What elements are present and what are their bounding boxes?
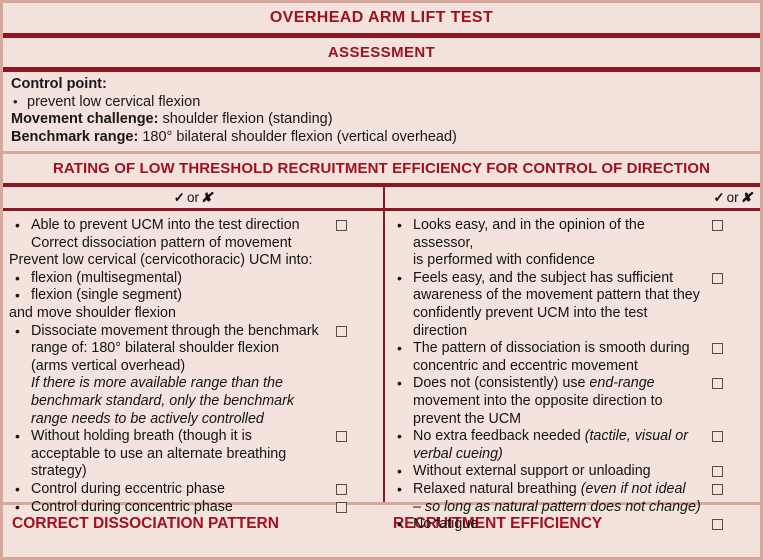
criterion-item: •Able to prevent UCM into the test direc… bbox=[3, 217, 383, 235]
criterion-line-italic: benchmark standard, only the benchmark bbox=[31, 393, 294, 409]
check-icon: ✓ bbox=[174, 190, 185, 206]
criterion-text: No fatigue bbox=[385, 516, 760, 534]
assessment-sheet: OVERHEAD ARM LIFT TEST ASSESSMENT Contro… bbox=[0, 0, 763, 560]
criterion-line: acceptable to use an alternate breathing bbox=[31, 446, 329, 464]
control-point-bullet-row: prevent low cervical flexion bbox=[11, 94, 752, 112]
movement-challenge-label: Movement challenge: bbox=[11, 111, 158, 127]
rating-title: RATING OF LOW THRESHOLD RECRUITMENT EFFI… bbox=[53, 160, 710, 177]
criterion-line: benchmark standard, only the benchmark bbox=[31, 393, 329, 411]
control-point-label: Control point: bbox=[11, 76, 107, 92]
criterion-line: awareness of the movement pattern that t… bbox=[413, 287, 706, 305]
assessment-label: ASSESSMENT bbox=[328, 44, 435, 61]
criterion-item: •flexion (multisegmental) bbox=[3, 270, 383, 288]
criterion-item: Correct dissociation pattern of movement bbox=[3, 235, 383, 253]
criterion-item: •The pattern of dissociation is smooth d… bbox=[385, 340, 760, 375]
check-icon: ✓ bbox=[713, 190, 724, 206]
criterion-line: Feels easy, and the subject has sufficie… bbox=[413, 270, 706, 288]
criterion-checkbox[interactable] bbox=[336, 502, 347, 513]
criterion-line: Without external support or unloading bbox=[413, 463, 706, 481]
criterion-line: Able to prevent UCM into the test direct… bbox=[31, 217, 329, 235]
bullet-icon: • bbox=[15, 217, 20, 235]
criterion-line: and move shoulder flexion bbox=[9, 305, 329, 323]
criterion-text: Feels easy, and the subject has sufficie… bbox=[385, 270, 760, 340]
criterion-line: Control during eccentric phase bbox=[31, 481, 329, 499]
criterion-line: (arms vertical overhead) bbox=[31, 358, 329, 376]
criterion-line-italic: verbal cueing) bbox=[413, 446, 503, 462]
criterion-item: •Control during eccentric phase bbox=[3, 481, 383, 499]
criterion-line-italic: (tactile, visual or bbox=[585, 428, 688, 444]
criterion-line: prevent the UCM bbox=[413, 411, 706, 429]
movement-challenge-value: shoulder flexion (standing) bbox=[162, 111, 332, 127]
mark-or-left: or bbox=[185, 190, 201, 205]
criterion-line: Relaxed natural breathing (even if not i… bbox=[413, 481, 706, 499]
mark-or-right: or bbox=[725, 190, 741, 205]
bullet-icon: • bbox=[15, 499, 20, 517]
bullet-icon: • bbox=[397, 516, 402, 534]
test-info-block: Control point: prevent low cervical flex… bbox=[3, 72, 760, 154]
bullet-icon: • bbox=[397, 340, 402, 358]
criterion-line: concentric and eccentric movement bbox=[413, 358, 706, 376]
control-point-bullet-text: prevent low cervical flexion bbox=[27, 94, 200, 110]
recruitment-efficiency-column: •Looks easy, and in the opinion of the a… bbox=[383, 211, 760, 502]
criterion-item: •Without holding breath (though it isacc… bbox=[3, 428, 383, 481]
criterion-line-italic: (even if not ideal bbox=[581, 481, 686, 497]
criterion-item: •Control during concentric phase bbox=[3, 499, 383, 517]
criterion-text: Looks easy, and in the opinion of the as… bbox=[385, 217, 760, 270]
bullet-icon: • bbox=[15, 481, 20, 499]
bullet-icon: • bbox=[397, 270, 402, 288]
mark-legend-right: ✓or✘ bbox=[383, 187, 760, 208]
criteria-columns: •Able to prevent UCM into the test direc… bbox=[3, 211, 760, 505]
bullet-icon: • bbox=[15, 270, 20, 288]
criterion-line: No fatigue bbox=[413, 516, 706, 534]
criterion-checkbox[interactable] bbox=[336, 431, 347, 442]
criterion-line-italic: end-range bbox=[589, 375, 654, 391]
bullet-icon: • bbox=[397, 217, 402, 235]
mark-legend-left: ✓or✘ bbox=[3, 187, 383, 208]
mark-legend-row: ✓or✘ ✓or✘ bbox=[3, 187, 760, 211]
criterion-checkbox[interactable] bbox=[336, 484, 347, 495]
criterion-line: Correct dissociation pattern of movement bbox=[31, 235, 329, 253]
criterion-text: Control during concentric phase bbox=[3, 499, 383, 517]
criterion-text: flexion (multisegmental) bbox=[3, 270, 383, 288]
criterion-checkbox[interactable] bbox=[712, 519, 723, 530]
assessment-band: ASSESSMENT bbox=[3, 38, 760, 72]
bullet-icon: • bbox=[397, 428, 402, 446]
correct-dissociation-pattern-column: •Able to prevent UCM into the test direc… bbox=[3, 211, 383, 502]
criterion-checkbox[interactable] bbox=[712, 220, 723, 231]
criterion-text: The pattern of dissociation is smooth du… bbox=[385, 340, 760, 375]
cross-icon: ✘ bbox=[741, 190, 752, 206]
criterion-line: direction bbox=[413, 323, 706, 341]
criterion-item: Prevent low cervical (cervicothoracic) U… bbox=[3, 252, 383, 270]
criterion-line-plain: Relaxed natural breathing bbox=[413, 481, 581, 497]
criterion-line: is performed with confidence bbox=[413, 252, 706, 270]
criterion-item: •No extra feedback needed (tactile, visu… bbox=[385, 428, 760, 463]
criterion-text: Able to prevent UCM into the test direct… bbox=[3, 217, 383, 235]
cross-icon: ✘ bbox=[201, 190, 212, 206]
benchmark-range-label: Benchmark range: bbox=[11, 129, 138, 145]
test-title-band: OVERHEAD ARM LIFT TEST bbox=[3, 3, 760, 38]
criterion-checkbox[interactable] bbox=[336, 220, 347, 231]
criterion-line: movement into the opposite direction to bbox=[413, 393, 706, 411]
criterion-text: Relaxed natural breathing (even if not i… bbox=[385, 481, 760, 516]
movement-challenge-row: Movement challenge: shoulder flexion (st… bbox=[11, 111, 752, 129]
criterion-line: Control during concentric phase bbox=[31, 499, 329, 517]
criterion-line: verbal cueing) bbox=[413, 446, 706, 464]
criterion-item: and move shoulder flexion bbox=[3, 305, 383, 323]
benchmark-range-row: Benchmark range: 180° bilateral shoulder… bbox=[11, 129, 752, 147]
criterion-text: Correct dissociation pattern of movement bbox=[3, 235, 383, 253]
criterion-checkbox[interactable] bbox=[712, 466, 723, 477]
bullet-icon: • bbox=[397, 463, 402, 481]
criterion-checkbox[interactable] bbox=[712, 273, 723, 284]
criterion-line: No extra feedback needed (tactile, visua… bbox=[413, 428, 706, 446]
criterion-item: •Dissociate movement through the benchma… bbox=[3, 323, 383, 429]
criterion-text: No extra feedback needed (tactile, visua… bbox=[385, 428, 760, 463]
criterion-text: flexion (single segment) bbox=[3, 287, 383, 305]
criterion-checkbox[interactable] bbox=[712, 431, 723, 442]
bullet-icon: • bbox=[15, 428, 20, 446]
criterion-line: confidently prevent UCM into the test bbox=[413, 305, 706, 323]
criterion-line: flexion (single segment) bbox=[31, 287, 329, 305]
criterion-line: Looks easy, and in the opinion of the as… bbox=[413, 217, 706, 252]
rating-band: RATING OF LOW THRESHOLD RECRUITMENT EFFI… bbox=[3, 154, 760, 187]
criterion-item: •Relaxed natural breathing (even if not … bbox=[385, 481, 760, 516]
criterion-line-plain: No extra feedback needed bbox=[413, 428, 585, 444]
control-point-label-row: Control point: bbox=[11, 76, 752, 94]
criterion-item: •Does not (consistently) use end-rangemo… bbox=[385, 375, 760, 428]
criterion-text: Without holding breath (though it isacce… bbox=[3, 428, 383, 481]
criterion-line: strategy) bbox=[31, 463, 329, 481]
criterion-line: If there is more available range than th… bbox=[31, 375, 329, 393]
criterion-checkbox[interactable] bbox=[712, 343, 723, 354]
criterion-line: Prevent low cervical (cervicothoracic) U… bbox=[9, 252, 329, 270]
criterion-line: Does not (consistently) use end-range bbox=[413, 375, 706, 393]
criterion-line: Without holding breath (though it is bbox=[31, 428, 329, 446]
criterion-item: •Looks easy, and in the opinion of the a… bbox=[385, 217, 760, 270]
bullet-icon: • bbox=[15, 287, 20, 305]
footer-left-label: CORRECT DISSOCIATION PATTERN bbox=[3, 515, 393, 533]
criterion-text: Control during eccentric phase bbox=[3, 481, 383, 499]
criterion-item: •flexion (single segment) bbox=[3, 287, 383, 305]
criterion-line: flexion (multisegmental) bbox=[31, 270, 329, 288]
criterion-text: Does not (consistently) use end-rangemov… bbox=[385, 375, 760, 428]
criterion-line-italic: range needs to be actively controlled bbox=[31, 411, 264, 427]
criterion-line: The pattern of dissociation is smooth du… bbox=[413, 340, 706, 358]
criterion-text: Without external support or unloading bbox=[385, 463, 760, 481]
bullet-icon: • bbox=[397, 481, 402, 499]
criterion-line: range of: 180° bilateral shoulder flexio… bbox=[31, 340, 329, 358]
bullet-icon: • bbox=[397, 375, 402, 393]
criterion-line: – so long as natural pattern does not ch… bbox=[413, 499, 706, 517]
criterion-text: and move shoulder flexion bbox=[3, 305, 383, 323]
criterion-line-plain: Does not (consistently) use bbox=[413, 375, 589, 391]
criterion-item: •Without external support or unloading bbox=[385, 463, 760, 481]
criterion-line-italic: If there is more available range than th… bbox=[31, 375, 283, 391]
criterion-item: •No fatigue bbox=[385, 516, 760, 534]
criterion-item: •Feels easy, and the subject has suffici… bbox=[385, 270, 760, 340]
bullet-icon: • bbox=[15, 323, 20, 341]
criterion-line-italic: – so long as natural pattern does not ch… bbox=[413, 499, 701, 515]
criterion-line: range needs to be actively controlled bbox=[31, 411, 329, 429]
criterion-checkbox[interactable] bbox=[336, 326, 347, 337]
criterion-checkbox[interactable] bbox=[712, 484, 723, 495]
page-title: OVERHEAD ARM LIFT TEST bbox=[270, 9, 493, 27]
criterion-text: Prevent low cervical (cervicothoracic) U… bbox=[3, 252, 383, 270]
criterion-text: Dissociate movement through the benchmar… bbox=[3, 323, 383, 429]
benchmark-range-value: 180° bilateral shoulder flexion (vertica… bbox=[142, 129, 457, 145]
criterion-line: Dissociate movement through the benchmar… bbox=[31, 323, 329, 341]
criterion-checkbox[interactable] bbox=[712, 378, 723, 389]
